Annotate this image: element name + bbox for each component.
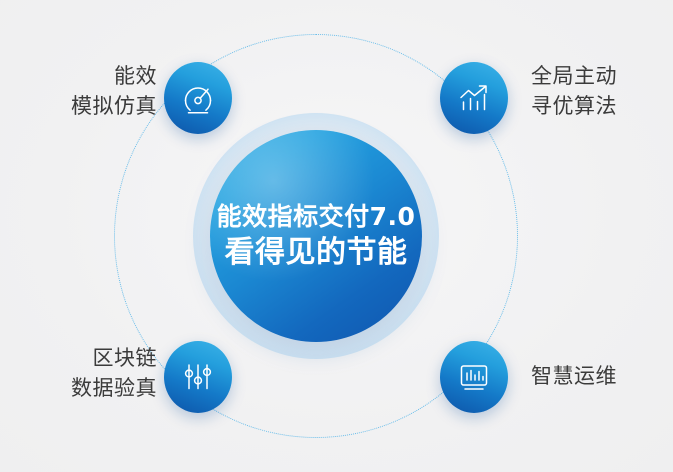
label-global-optimization-line2: 寻优算法 xyxy=(531,92,617,122)
central-sphere-line2: 看得见的节能 xyxy=(225,235,408,270)
node-energy-simulation[interactable] xyxy=(164,62,232,134)
label-energy-simulation-line1: 能效 xyxy=(71,62,157,92)
label-smart-operations: 智慧运维 xyxy=(531,362,617,392)
node-smart-operations[interactable] xyxy=(440,341,508,413)
infographic-canvas: 能效指标交付7.0 看得见的节能 能效 模拟仿真 xyxy=(0,0,673,472)
label-energy-simulation: 能效 模拟仿真 xyxy=(71,62,157,122)
node-blockchain-verification[interactable] xyxy=(164,341,232,413)
label-blockchain-verification: 区块链 数据验真 xyxy=(71,344,157,404)
sliders-icon xyxy=(178,357,218,397)
label-global-optimization-line1: 全局主动 xyxy=(531,62,617,92)
label-global-optimization: 全局主动 寻优算法 xyxy=(531,62,617,122)
growth-chart-arrow-icon xyxy=(454,78,494,118)
monitor-bar-chart-icon xyxy=(454,357,494,397)
label-blockchain-verification-line1: 区块链 xyxy=(71,344,157,374)
central-sphere: 能效指标交付7.0 看得见的节能 xyxy=(210,130,422,342)
node-global-optimization[interactable] xyxy=(440,62,508,134)
gauge-icon xyxy=(178,78,218,118)
central-sphere-line1: 能效指标交付7.0 xyxy=(217,202,416,232)
label-blockchain-verification-line2: 数据验真 xyxy=(71,374,157,404)
label-smart-operations-line1: 智慧运维 xyxy=(531,362,617,392)
label-energy-simulation-line2: 模拟仿真 xyxy=(71,92,157,122)
